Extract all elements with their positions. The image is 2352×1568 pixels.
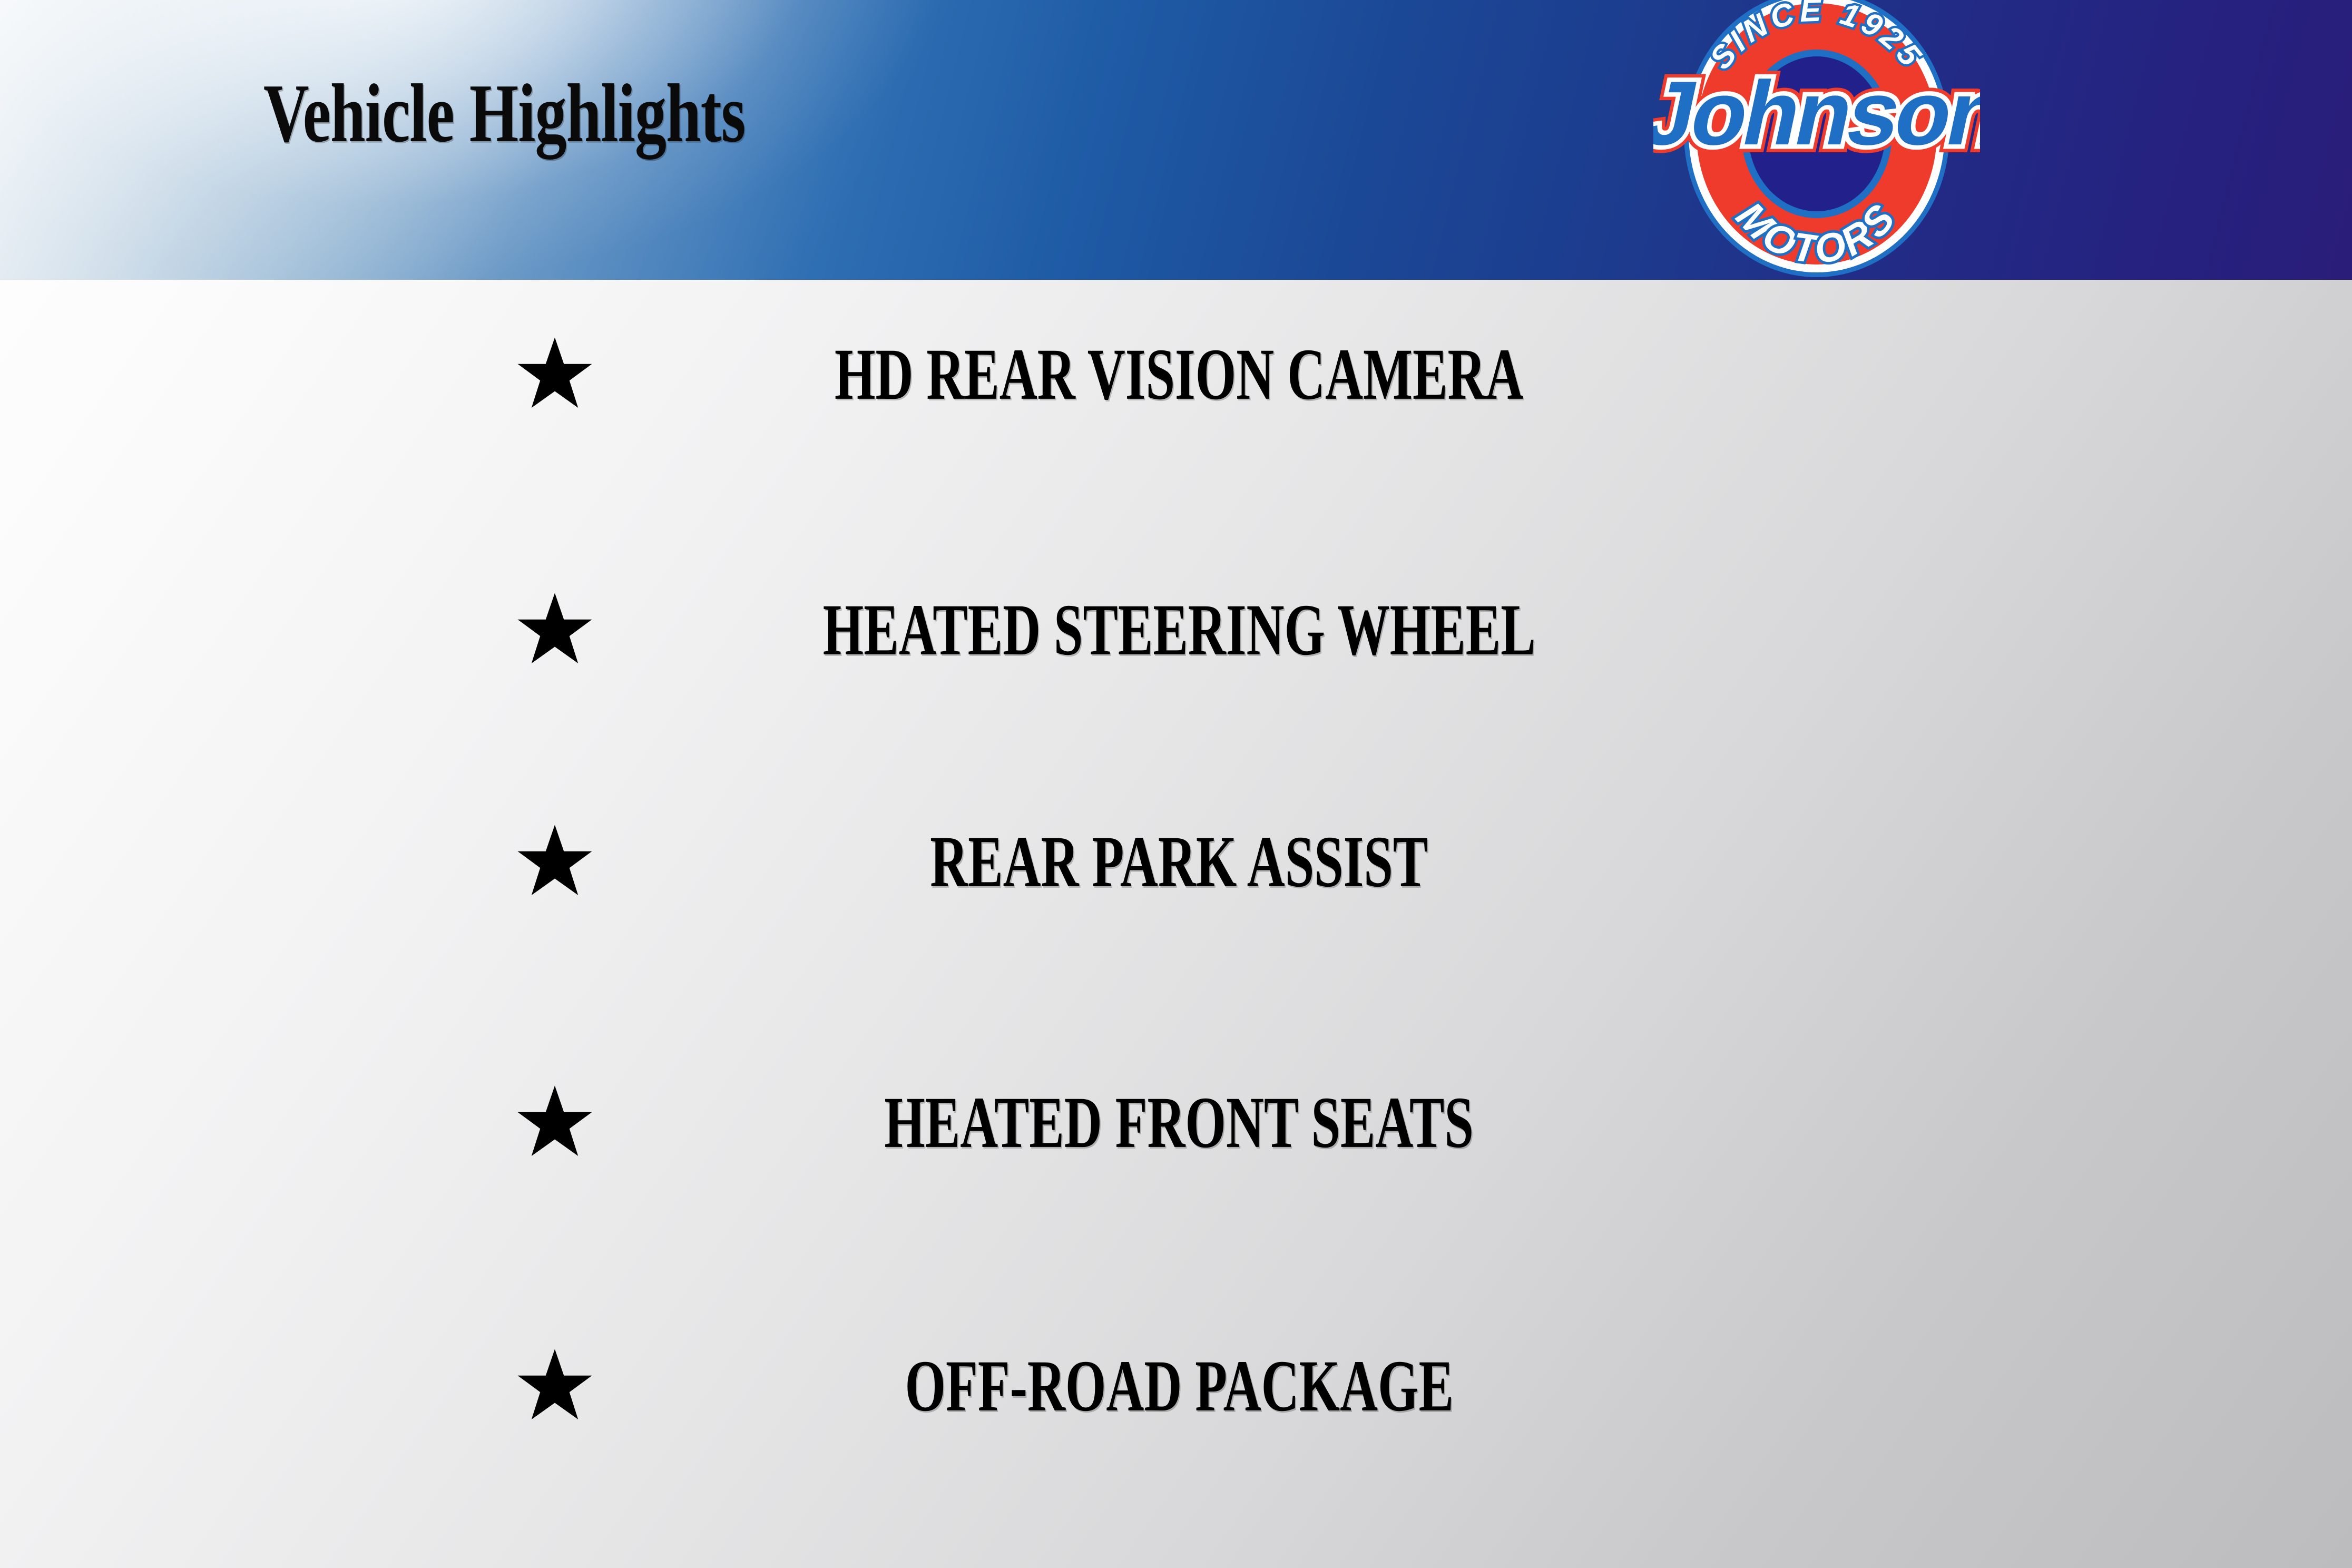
logo-brand-script: Johnson Johnson Johnson (1653, 63, 1980, 164)
list-item-label-wrap: HEATED FRONT SEATS (652, 1091, 1706, 1154)
list-item: HEATED STEERING WHEEL (0, 577, 2352, 683)
list-item-label: REAR PARK ASSIST (930, 820, 1428, 904)
header-band: Vehicle Highlights (0, 0, 2352, 280)
list-item: OFF-ROAD PACKAGE (0, 1334, 2352, 1439)
list-item-label-wrap: HD REAR VISION CAMERA (652, 343, 1706, 406)
star-icon (515, 591, 594, 670)
star-icon (515, 335, 594, 414)
star-icon (515, 1347, 594, 1426)
list-item: HEATED FRONT SEATS (0, 1070, 2352, 1175)
list-item-label: HEATED FRONT SEATS (885, 1081, 1474, 1165)
johnson-motors-logo: SINCE 1925 MOTORS Johnson Johnson Johnso… (1653, 0, 1980, 278)
slide-canvas: Vehicle Highlights (0, 0, 2352, 1568)
page-title: Vehicle Highlights (263, 72, 745, 155)
list-item: REAR PARK ASSIST (0, 809, 2352, 915)
list-item: HD REAR VISION CAMERA (0, 322, 2352, 427)
list-item-label: HD REAR VISION CAMERA (835, 332, 1523, 417)
star-icon (515, 1083, 594, 1162)
list-item-label-wrap: REAR PARK ASSIST (652, 830, 1706, 894)
list-item-label: HEATED STEERING WHEEL (823, 588, 1536, 672)
list-item-label-wrap: HEATED STEERING WHEEL (652, 599, 1706, 662)
logo-svg: SINCE 1925 MOTORS Johnson Johnson Johnso… (1653, 0, 1980, 278)
svg-text:Johnson: Johnson (1653, 63, 1980, 164)
list-item-label-wrap: OFF-ROAD PACKAGE (652, 1355, 1706, 1418)
star-icon (515, 822, 594, 901)
vehicle-highlights-list: HD REAR VISION CAMERA HEATED STEERING WH… (0, 280, 2352, 1568)
list-item-label: OFF-ROAD PACKAGE (905, 1344, 1454, 1428)
